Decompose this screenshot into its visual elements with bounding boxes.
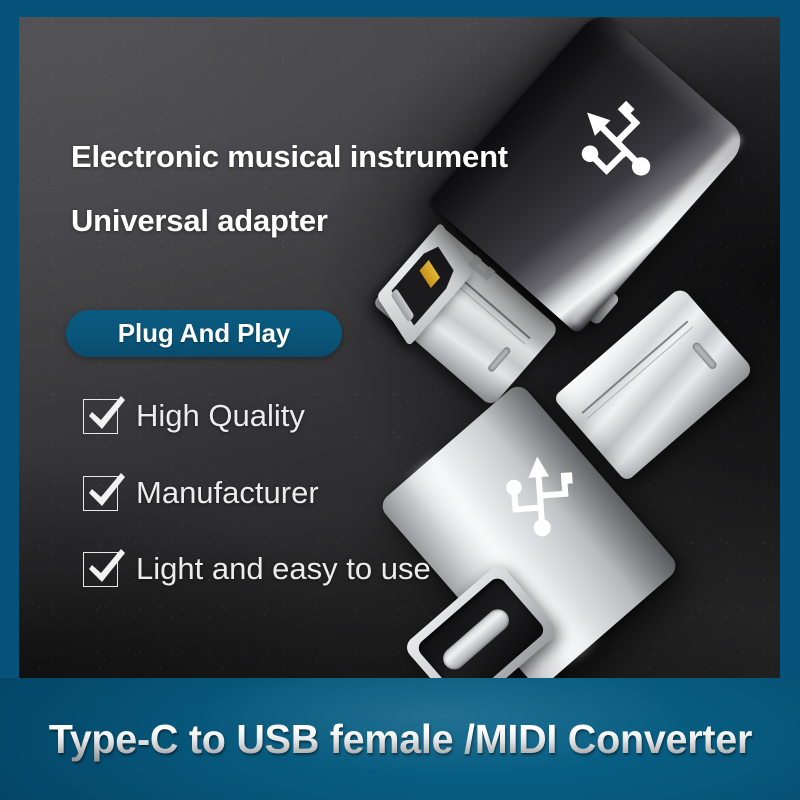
feature-item: Light and easy to use	[83, 551, 431, 587]
checkbox-checked-icon	[83, 476, 118, 511]
plug-and-play-badge-label: Plug And Play	[118, 318, 291, 349]
usb-b-shell-seam	[582, 321, 689, 414]
feature-label: High Quality	[136, 398, 305, 434]
bottom-title-banner: Type-C to USB female /MIDI Converter	[0, 678, 800, 800]
frame-border-top	[0, 0, 800, 17]
frame-border-right	[780, 0, 800, 678]
plug-and-play-badge: Plug And Play	[66, 310, 342, 357]
usb-trident-icon	[494, 450, 586, 542]
feature-item: Manufacturer	[83, 475, 319, 511]
usb-b-shell-seam-highlight	[587, 327, 693, 420]
usb-b-shell-slot	[691, 341, 718, 370]
silver-adapter-product	[411, 305, 771, 678]
feature-label: Manufacturer	[136, 475, 319, 511]
feature-label: Light and easy to use	[136, 551, 431, 587]
headline-line-2: Universal adapter	[71, 203, 328, 239]
feature-item: High Quality	[83, 398, 305, 434]
product-poster: Electronic musical instrument Universal …	[0, 0, 800, 800]
checkbox-checked-icon	[83, 399, 118, 434]
frame-border-left	[0, 0, 19, 678]
banner-title: Type-C to USB female /MIDI Converter	[48, 716, 751, 763]
product-photo-stage: Electronic musical instrument Universal …	[19, 17, 781, 678]
headline-line-1: Electronic musical instrument	[71, 139, 508, 175]
checkbox-checked-icon	[83, 552, 118, 587]
